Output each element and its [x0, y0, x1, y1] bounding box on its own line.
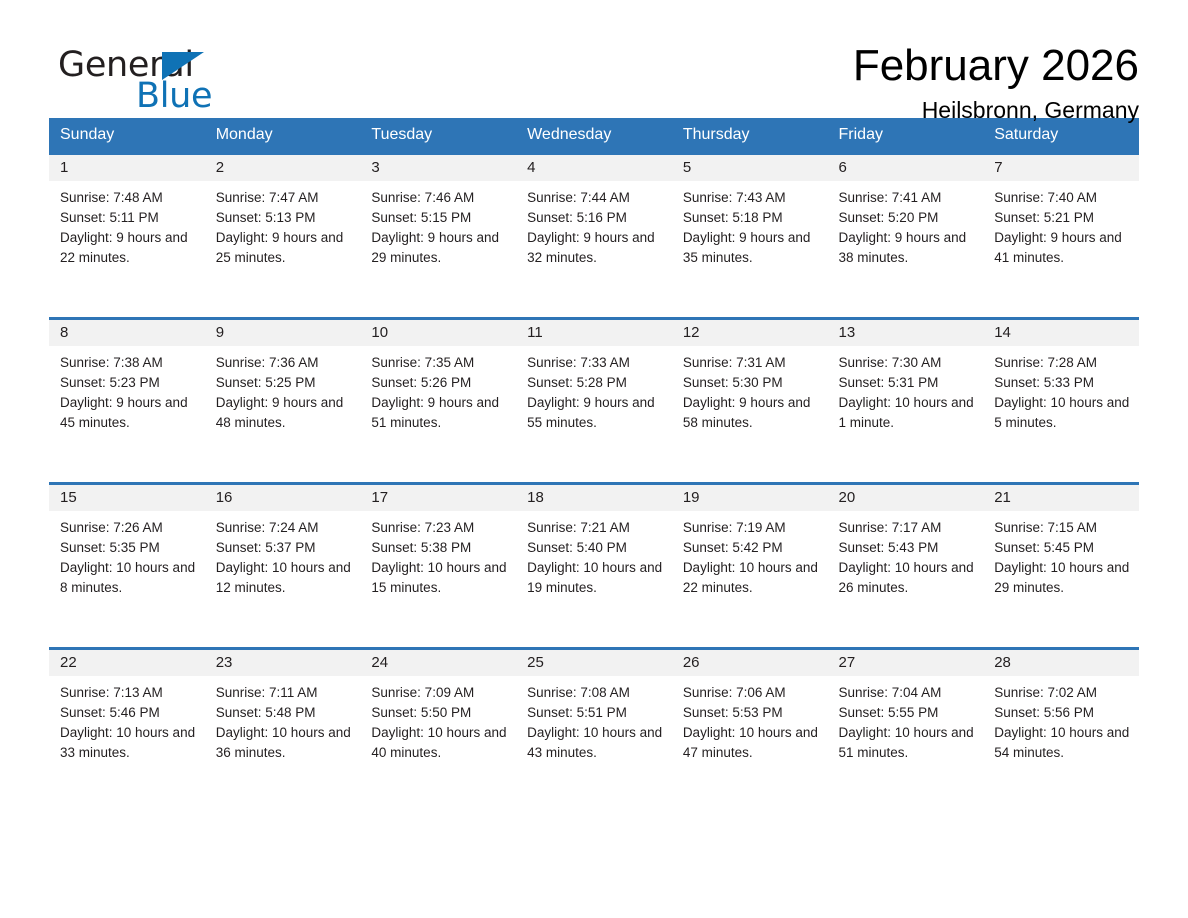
title-block: February 2026 Heilsbronn, Germany: [853, 40, 1139, 124]
day-details: Sunrise: 7:08 AMSunset: 5:51 PMDaylight:…: [516, 676, 672, 763]
calendar-week-row: 1Sunrise: 7:48 AMSunset: 5:11 PMDaylight…: [49, 154, 1139, 319]
sunrise-text: Sunrise: 7:21 AM: [527, 518, 666, 538]
calendar-day-cell[interactable]: 19Sunrise: 7:19 AMSunset: 5:42 PMDayligh…: [672, 484, 828, 649]
sunrise-text: Sunrise: 7:38 AM: [60, 353, 199, 373]
day-number: 7: [983, 155, 1139, 181]
day-number: 27: [828, 650, 984, 676]
day-cell-content: 15Sunrise: 7:26 AMSunset: 5:35 PMDayligh…: [49, 485, 205, 647]
day-cell-content: 24Sunrise: 7:09 AMSunset: 5:50 PMDayligh…: [360, 650, 516, 812]
day-cell-content: 25Sunrise: 7:08 AMSunset: 5:51 PMDayligh…: [516, 650, 672, 812]
sunset-text: Sunset: 5:21 PM: [994, 208, 1133, 228]
day-details: Sunrise: 7:23 AMSunset: 5:38 PMDaylight:…: [360, 511, 516, 598]
calendar-day-cell[interactable]: 2Sunrise: 7:47 AMSunset: 5:13 PMDaylight…: [205, 154, 361, 319]
sunrise-text: Sunrise: 7:13 AM: [60, 683, 199, 703]
day-cell-content: 7Sunrise: 7:40 AMSunset: 5:21 PMDaylight…: [983, 155, 1139, 317]
day-details: Sunrise: 7:19 AMSunset: 5:42 PMDaylight:…: [672, 511, 828, 598]
day-number: 20: [828, 485, 984, 511]
daylight-text: Daylight: 9 hours and 29 minutes.: [371, 228, 510, 268]
weekday-header-sunday: Sunday: [49, 118, 205, 154]
general-blue-logo[interactable]: General Blue: [58, 45, 278, 120]
calendar-day-cell[interactable]: 26Sunrise: 7:06 AMSunset: 5:53 PMDayligh…: [672, 649, 828, 813]
sunset-text: Sunset: 5:30 PM: [683, 373, 822, 393]
calendar-day-cell[interactable]: 13Sunrise: 7:30 AMSunset: 5:31 PMDayligh…: [828, 319, 984, 484]
sunset-text: Sunset: 5:55 PM: [839, 703, 978, 723]
day-cell-content: 23Sunrise: 7:11 AMSunset: 5:48 PMDayligh…: [205, 650, 361, 812]
sunrise-text: Sunrise: 7:26 AM: [60, 518, 199, 538]
calendar-day-cell[interactable]: 27Sunrise: 7:04 AMSunset: 5:55 PMDayligh…: [828, 649, 984, 813]
sunrise-text: Sunrise: 7:48 AM: [60, 188, 199, 208]
sunrise-text: Sunrise: 7:15 AM: [994, 518, 1133, 538]
calendar-day-cell[interactable]: 11Sunrise: 7:33 AMSunset: 5:28 PMDayligh…: [516, 319, 672, 484]
daylight-text: Daylight: 10 hours and 29 minutes.: [994, 558, 1133, 598]
day-number: 14: [983, 320, 1139, 346]
day-details: Sunrise: 7:24 AMSunset: 5:37 PMDaylight:…: [205, 511, 361, 598]
daylight-text: Daylight: 10 hours and 40 minutes.: [371, 723, 510, 763]
daylight-text: Daylight: 9 hours and 22 minutes.: [60, 228, 199, 268]
calendar-day-cell[interactable]: 3Sunrise: 7:46 AMSunset: 5:15 PMDaylight…: [360, 154, 516, 319]
sunrise-text: Sunrise: 7:33 AM: [527, 353, 666, 373]
day-details: Sunrise: 7:48 AMSunset: 5:11 PMDaylight:…: [49, 181, 205, 268]
daylight-text: Daylight: 10 hours and 51 minutes.: [839, 723, 978, 763]
sunrise-text: Sunrise: 7:46 AM: [371, 188, 510, 208]
day-number: 23: [205, 650, 361, 676]
day-details: Sunrise: 7:13 AMSunset: 5:46 PMDaylight:…: [49, 676, 205, 763]
sunset-text: Sunset: 5:33 PM: [994, 373, 1133, 393]
daylight-text: Daylight: 10 hours and 8 minutes.: [60, 558, 199, 598]
day-number: 26: [672, 650, 828, 676]
day-number: 18: [516, 485, 672, 511]
calendar-day-cell[interactable]: 17Sunrise: 7:23 AMSunset: 5:38 PMDayligh…: [360, 484, 516, 649]
daylight-text: Daylight: 10 hours and 47 minutes.: [683, 723, 822, 763]
day-cell-content: 18Sunrise: 7:21 AMSunset: 5:40 PMDayligh…: [516, 485, 672, 647]
calendar-day-cell[interactable]: 20Sunrise: 7:17 AMSunset: 5:43 PMDayligh…: [828, 484, 984, 649]
day-number: 4: [516, 155, 672, 181]
sunrise-text: Sunrise: 7:41 AM: [839, 188, 978, 208]
daylight-text: Daylight: 10 hours and 19 minutes.: [527, 558, 666, 598]
day-number: 25: [516, 650, 672, 676]
daylight-text: Daylight: 10 hours and 5 minutes.: [994, 393, 1133, 433]
day-details: Sunrise: 7:41 AMSunset: 5:20 PMDaylight:…: [828, 181, 984, 268]
day-number: 11: [516, 320, 672, 346]
sunrise-text: Sunrise: 7:11 AM: [216, 683, 355, 703]
sunset-text: Sunset: 5:25 PM: [216, 373, 355, 393]
day-number: 8: [49, 320, 205, 346]
sunset-text: Sunset: 5:38 PM: [371, 538, 510, 558]
sunset-text: Sunset: 5:16 PM: [527, 208, 666, 228]
day-cell-content: 16Sunrise: 7:24 AMSunset: 5:37 PMDayligh…: [205, 485, 361, 647]
day-details: Sunrise: 7:26 AMSunset: 5:35 PMDaylight:…: [49, 511, 205, 598]
sunrise-text: Sunrise: 7:36 AM: [216, 353, 355, 373]
sunrise-text: Sunrise: 7:28 AM: [994, 353, 1133, 373]
day-details: Sunrise: 7:21 AMSunset: 5:40 PMDaylight:…: [516, 511, 672, 598]
sunrise-text: Sunrise: 7:09 AM: [371, 683, 510, 703]
day-details: Sunrise: 7:06 AMSunset: 5:53 PMDaylight:…: [672, 676, 828, 763]
day-number: 21: [983, 485, 1139, 511]
day-cell-content: 13Sunrise: 7:30 AMSunset: 5:31 PMDayligh…: [828, 320, 984, 482]
sunrise-text: Sunrise: 7:19 AM: [683, 518, 822, 538]
calendar-week-row: 8Sunrise: 7:38 AMSunset: 5:23 PMDaylight…: [49, 319, 1139, 484]
calendar-day-cell[interactable]: 12Sunrise: 7:31 AMSunset: 5:30 PMDayligh…: [672, 319, 828, 484]
day-number: 19: [672, 485, 828, 511]
day-number: 3: [360, 155, 516, 181]
day-number: 16: [205, 485, 361, 511]
sunset-text: Sunset: 5:42 PM: [683, 538, 822, 558]
day-cell-content: 12Sunrise: 7:31 AMSunset: 5:30 PMDayligh…: [672, 320, 828, 482]
day-number: 12: [672, 320, 828, 346]
daylight-text: Daylight: 10 hours and 54 minutes.: [994, 723, 1133, 763]
day-cell-content: 28Sunrise: 7:02 AMSunset: 5:56 PMDayligh…: [983, 650, 1139, 812]
sunset-text: Sunset: 5:46 PM: [60, 703, 199, 723]
day-details: Sunrise: 7:30 AMSunset: 5:31 PMDaylight:…: [828, 346, 984, 433]
day-number: 15: [49, 485, 205, 511]
sunset-text: Sunset: 5:37 PM: [216, 538, 355, 558]
day-details: Sunrise: 7:02 AMSunset: 5:56 PMDaylight:…: [983, 676, 1139, 763]
weekday-header-thursday: Thursday: [672, 118, 828, 154]
sunset-text: Sunset: 5:28 PM: [527, 373, 666, 393]
sunset-text: Sunset: 5:40 PM: [527, 538, 666, 558]
sunrise-text: Sunrise: 7:40 AM: [994, 188, 1133, 208]
day-details: Sunrise: 7:44 AMSunset: 5:16 PMDaylight:…: [516, 181, 672, 268]
day-cell-content: 27Sunrise: 7:04 AMSunset: 5:55 PMDayligh…: [828, 650, 984, 812]
day-number: 13: [828, 320, 984, 346]
calendar-day-cell[interactable]: 25Sunrise: 7:08 AMSunset: 5:51 PMDayligh…: [516, 649, 672, 813]
daylight-text: Daylight: 9 hours and 25 minutes.: [216, 228, 355, 268]
sunrise-sunset-calendar: Sunday Monday Tuesday Wednesday Thursday…: [49, 118, 1139, 812]
day-cell-content: 6Sunrise: 7:41 AMSunset: 5:20 PMDaylight…: [828, 155, 984, 317]
day-number: 10: [360, 320, 516, 346]
sunset-text: Sunset: 5:11 PM: [60, 208, 199, 228]
calendar-day-cell[interactable]: 7Sunrise: 7:40 AMSunset: 5:21 PMDaylight…: [983, 154, 1139, 319]
daylight-text: Daylight: 10 hours and 15 minutes.: [371, 558, 510, 598]
calendar-week-row: 22Sunrise: 7:13 AMSunset: 5:46 PMDayligh…: [49, 649, 1139, 813]
calendar-day-cell[interactable]: 23Sunrise: 7:11 AMSunset: 5:48 PMDayligh…: [205, 649, 361, 813]
calendar-day-cell[interactable]: 18Sunrise: 7:21 AMSunset: 5:40 PMDayligh…: [516, 484, 672, 649]
sunset-text: Sunset: 5:23 PM: [60, 373, 199, 393]
daylight-text: Daylight: 10 hours and 1 minute.: [839, 393, 978, 433]
calendar-day-cell[interactable]: 28Sunrise: 7:02 AMSunset: 5:56 PMDayligh…: [983, 649, 1139, 813]
day-number: 2: [205, 155, 361, 181]
day-cell-content: 22Sunrise: 7:13 AMSunset: 5:46 PMDayligh…: [49, 650, 205, 812]
sunset-text: Sunset: 5:31 PM: [839, 373, 978, 393]
sunset-text: Sunset: 5:56 PM: [994, 703, 1133, 723]
sunset-text: Sunset: 5:35 PM: [60, 538, 199, 558]
page-header: General Blue February 2026 Heilsbronn, G…: [49, 0, 1139, 118]
sunrise-text: Sunrise: 7:43 AM: [683, 188, 822, 208]
calendar-day-cell[interactable]: 24Sunrise: 7:09 AMSunset: 5:50 PMDayligh…: [360, 649, 516, 813]
day-details: Sunrise: 7:17 AMSunset: 5:43 PMDaylight:…: [828, 511, 984, 598]
day-details: Sunrise: 7:28 AMSunset: 5:33 PMDaylight:…: [983, 346, 1139, 433]
calendar-week-row: 15Sunrise: 7:26 AMSunset: 5:35 PMDayligh…: [49, 484, 1139, 649]
day-number: 5: [672, 155, 828, 181]
calendar-day-cell[interactable]: 9Sunrise: 7:36 AMSunset: 5:25 PMDaylight…: [205, 319, 361, 484]
daylight-text: Daylight: 9 hours and 58 minutes.: [683, 393, 822, 433]
day-details: Sunrise: 7:47 AMSunset: 5:13 PMDaylight:…: [205, 181, 361, 268]
day-details: Sunrise: 7:40 AMSunset: 5:21 PMDaylight:…: [983, 181, 1139, 268]
calendar-day-cell[interactable]: 4Sunrise: 7:44 AMSunset: 5:16 PMDaylight…: [516, 154, 672, 319]
daylight-text: Daylight: 10 hours and 22 minutes.: [683, 558, 822, 598]
calendar-day-cell[interactable]: 10Sunrise: 7:35 AMSunset: 5:26 PMDayligh…: [360, 319, 516, 484]
sunrise-text: Sunrise: 7:04 AM: [839, 683, 978, 703]
sunrise-text: Sunrise: 7:35 AM: [371, 353, 510, 373]
sunrise-text: Sunrise: 7:31 AM: [683, 353, 822, 373]
page-title: February 2026: [853, 40, 1139, 92]
day-details: Sunrise: 7:11 AMSunset: 5:48 PMDaylight:…: [205, 676, 361, 763]
calendar-day-cell[interactable]: 6Sunrise: 7:41 AMSunset: 5:20 PMDaylight…: [828, 154, 984, 319]
day-details: Sunrise: 7:31 AMSunset: 5:30 PMDaylight:…: [672, 346, 828, 433]
sunset-text: Sunset: 5:53 PM: [683, 703, 822, 723]
day-details: Sunrise: 7:09 AMSunset: 5:50 PMDaylight:…: [360, 676, 516, 763]
day-details: Sunrise: 7:36 AMSunset: 5:25 PMDaylight:…: [205, 346, 361, 433]
sunset-text: Sunset: 5:48 PM: [216, 703, 355, 723]
daylight-text: Daylight: 9 hours and 32 minutes.: [527, 228, 666, 268]
sunrise-text: Sunrise: 7:23 AM: [371, 518, 510, 538]
day-details: Sunrise: 7:33 AMSunset: 5:28 PMDaylight:…: [516, 346, 672, 433]
day-details: Sunrise: 7:15 AMSunset: 5:45 PMDaylight:…: [983, 511, 1139, 598]
day-details: Sunrise: 7:43 AMSunset: 5:18 PMDaylight:…: [672, 181, 828, 268]
day-cell-content: 20Sunrise: 7:17 AMSunset: 5:43 PMDayligh…: [828, 485, 984, 647]
calendar-body: 1Sunrise: 7:48 AMSunset: 5:11 PMDaylight…: [49, 154, 1139, 813]
daylight-text: Daylight: 10 hours and 33 minutes.: [60, 723, 199, 763]
calendar-day-cell[interactable]: 16Sunrise: 7:24 AMSunset: 5:37 PMDayligh…: [205, 484, 361, 649]
day-cell-content: 5Sunrise: 7:43 AMSunset: 5:18 PMDaylight…: [672, 155, 828, 317]
day-cell-content: 11Sunrise: 7:33 AMSunset: 5:28 PMDayligh…: [516, 320, 672, 482]
day-details: Sunrise: 7:04 AMSunset: 5:55 PMDaylight:…: [828, 676, 984, 763]
sunrise-text: Sunrise: 7:47 AM: [216, 188, 355, 208]
sunrise-text: Sunrise: 7:30 AM: [839, 353, 978, 373]
day-cell-content: 17Sunrise: 7:23 AMSunset: 5:38 PMDayligh…: [360, 485, 516, 647]
calendar-day-cell[interactable]: 14Sunrise: 7:28 AMSunset: 5:33 PMDayligh…: [983, 319, 1139, 484]
day-cell-content: 8Sunrise: 7:38 AMSunset: 5:23 PMDaylight…: [49, 320, 205, 482]
sunset-text: Sunset: 5:26 PM: [371, 373, 510, 393]
day-number: 9: [205, 320, 361, 346]
day-details: Sunrise: 7:38 AMSunset: 5:23 PMDaylight:…: [49, 346, 205, 433]
weekday-header-wednesday: Wednesday: [516, 118, 672, 154]
day-number: 22: [49, 650, 205, 676]
daylight-text: Daylight: 10 hours and 36 minutes.: [216, 723, 355, 763]
sunrise-text: Sunrise: 7:06 AM: [683, 683, 822, 703]
daylight-text: Daylight: 9 hours and 55 minutes.: [527, 393, 666, 433]
daylight-text: Daylight: 9 hours and 41 minutes.: [994, 228, 1133, 268]
day-number: 17: [360, 485, 516, 511]
sunset-text: Sunset: 5:45 PM: [994, 538, 1133, 558]
location-subtitle: Heilsbronn, Germany: [853, 96, 1139, 124]
sunrise-text: Sunrise: 7:44 AM: [527, 188, 666, 208]
calendar-day-cell[interactable]: 21Sunrise: 7:15 AMSunset: 5:45 PMDayligh…: [983, 484, 1139, 649]
day-number: 28: [983, 650, 1139, 676]
calendar-day-cell[interactable]: 5Sunrise: 7:43 AMSunset: 5:18 PMDaylight…: [672, 154, 828, 319]
daylight-text: Daylight: 9 hours and 48 minutes.: [216, 393, 355, 433]
day-number: 6: [828, 155, 984, 181]
sunrise-text: Sunrise: 7:17 AM: [839, 518, 978, 538]
sunrise-text: Sunrise: 7:08 AM: [527, 683, 666, 703]
calendar-day-cell[interactable]: 8Sunrise: 7:38 AMSunset: 5:23 PMDaylight…: [49, 319, 205, 484]
day-cell-content: 10Sunrise: 7:35 AMSunset: 5:26 PMDayligh…: [360, 320, 516, 482]
sunset-text: Sunset: 5:13 PM: [216, 208, 355, 228]
calendar-day-cell[interactable]: 15Sunrise: 7:26 AMSunset: 5:35 PMDayligh…: [49, 484, 205, 649]
sunset-text: Sunset: 5:18 PM: [683, 208, 822, 228]
day-details: Sunrise: 7:46 AMSunset: 5:15 PMDaylight:…: [360, 181, 516, 268]
calendar-page: General Blue February 2026 Heilsbronn, G…: [0, 0, 1188, 918]
day-cell-content: 26Sunrise: 7:06 AMSunset: 5:53 PMDayligh…: [672, 650, 828, 812]
daylight-text: Daylight: 9 hours and 38 minutes.: [839, 228, 978, 268]
daylight-text: Daylight: 9 hours and 51 minutes.: [371, 393, 510, 433]
day-number: 24: [360, 650, 516, 676]
sunset-text: Sunset: 5:50 PM: [371, 703, 510, 723]
day-number: 1: [49, 155, 205, 181]
logo-text-blue: Blue: [136, 76, 212, 116]
sunset-text: Sunset: 5:51 PM: [527, 703, 666, 723]
day-cell-content: 21Sunrise: 7:15 AMSunset: 5:45 PMDayligh…: [983, 485, 1139, 647]
daylight-text: Daylight: 10 hours and 12 minutes.: [216, 558, 355, 598]
sunset-text: Sunset: 5:15 PM: [371, 208, 510, 228]
daylight-text: Daylight: 9 hours and 45 minutes.: [60, 393, 199, 433]
weekday-header-monday: Monday: [205, 118, 361, 154]
daylight-text: Daylight: 9 hours and 35 minutes.: [683, 228, 822, 268]
daylight-text: Daylight: 10 hours and 43 minutes.: [527, 723, 666, 763]
day-cell-content: 19Sunrise: 7:19 AMSunset: 5:42 PMDayligh…: [672, 485, 828, 647]
sunset-text: Sunset: 5:43 PM: [839, 538, 978, 558]
day-details: Sunrise: 7:35 AMSunset: 5:26 PMDaylight:…: [360, 346, 516, 433]
sunset-text: Sunset: 5:20 PM: [839, 208, 978, 228]
calendar-day-cell[interactable]: 22Sunrise: 7:13 AMSunset: 5:46 PMDayligh…: [49, 649, 205, 813]
day-cell-content: 2Sunrise: 7:47 AMSunset: 5:13 PMDaylight…: [205, 155, 361, 317]
day-cell-content: 1Sunrise: 7:48 AMSunset: 5:11 PMDaylight…: [49, 155, 205, 317]
day-cell-content: 3Sunrise: 7:46 AMSunset: 5:15 PMDaylight…: [360, 155, 516, 317]
day-cell-content: 14Sunrise: 7:28 AMSunset: 5:33 PMDayligh…: [983, 320, 1139, 482]
sunrise-text: Sunrise: 7:02 AM: [994, 683, 1133, 703]
sunrise-text: Sunrise: 7:24 AM: [216, 518, 355, 538]
calendar-day-cell[interactable]: 1Sunrise: 7:48 AMSunset: 5:11 PMDaylight…: [49, 154, 205, 319]
day-cell-content: 9Sunrise: 7:36 AMSunset: 5:25 PMDaylight…: [205, 320, 361, 482]
daylight-text: Daylight: 10 hours and 26 minutes.: [839, 558, 978, 598]
weekday-header-tuesday: Tuesday: [360, 118, 516, 154]
day-cell-content: 4Sunrise: 7:44 AMSunset: 5:16 PMDaylight…: [516, 155, 672, 317]
